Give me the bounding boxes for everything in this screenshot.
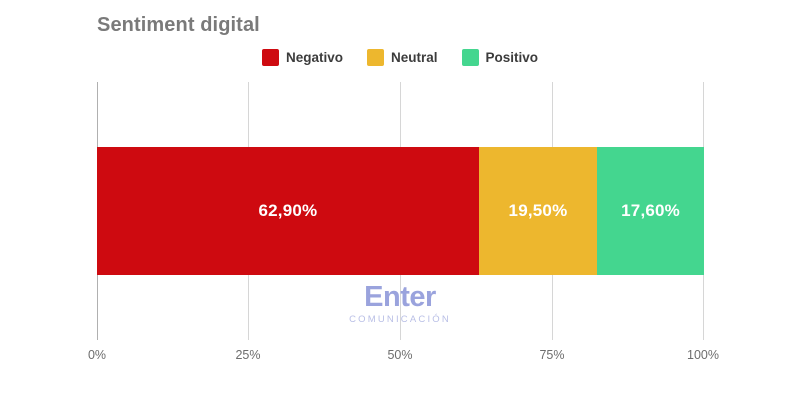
legend-swatch-neutral <box>367 49 384 66</box>
legend-item-neutral[interactable]: Neutral <box>367 49 438 66</box>
x-tick-1: 25% <box>235 348 260 362</box>
legend-label-neutral: Neutral <box>391 50 438 65</box>
bar-segment-positivo[interactable]: 17,60% <box>597 147 704 275</box>
bar-label-positivo: 17,60% <box>621 201 680 221</box>
bar-label-negativo: 62,90% <box>258 201 317 221</box>
x-tick-3: 75% <box>539 348 564 362</box>
chart-container: Sentiment digital Negativo Neutral Posit… <box>0 0 800 401</box>
legend-swatch-negativo <box>262 49 279 66</box>
chart-legend: Negativo Neutral Positivo <box>0 49 800 66</box>
legend-label-positivo: Positivo <box>486 50 539 65</box>
bar-label-neutral: 19,50% <box>509 201 568 221</box>
legend-label-negativo: Negativo <box>286 50 343 65</box>
x-tick-2: 50% <box>387 348 412 362</box>
x-tick-4: 100% <box>687 348 719 362</box>
chart-title: Sentiment digital <box>97 14 260 37</box>
legend-item-positivo[interactable]: Positivo <box>462 49 539 66</box>
x-axis-ticks: 0% 25% 50% 75% 100% <box>97 348 704 368</box>
x-tick-0: 0% <box>88 348 106 362</box>
plot-area: 62,90% 19,50% 17,60% <box>97 82 704 340</box>
legend-item-negativo[interactable]: Negativo <box>262 49 343 66</box>
bar-segment-neutral[interactable]: 19,50% <box>479 147 597 275</box>
bar-segment-negativo[interactable]: 62,90% <box>97 147 479 275</box>
legend-swatch-positivo <box>462 49 479 66</box>
stacked-bar: 62,90% 19,50% 17,60% <box>97 147 704 275</box>
